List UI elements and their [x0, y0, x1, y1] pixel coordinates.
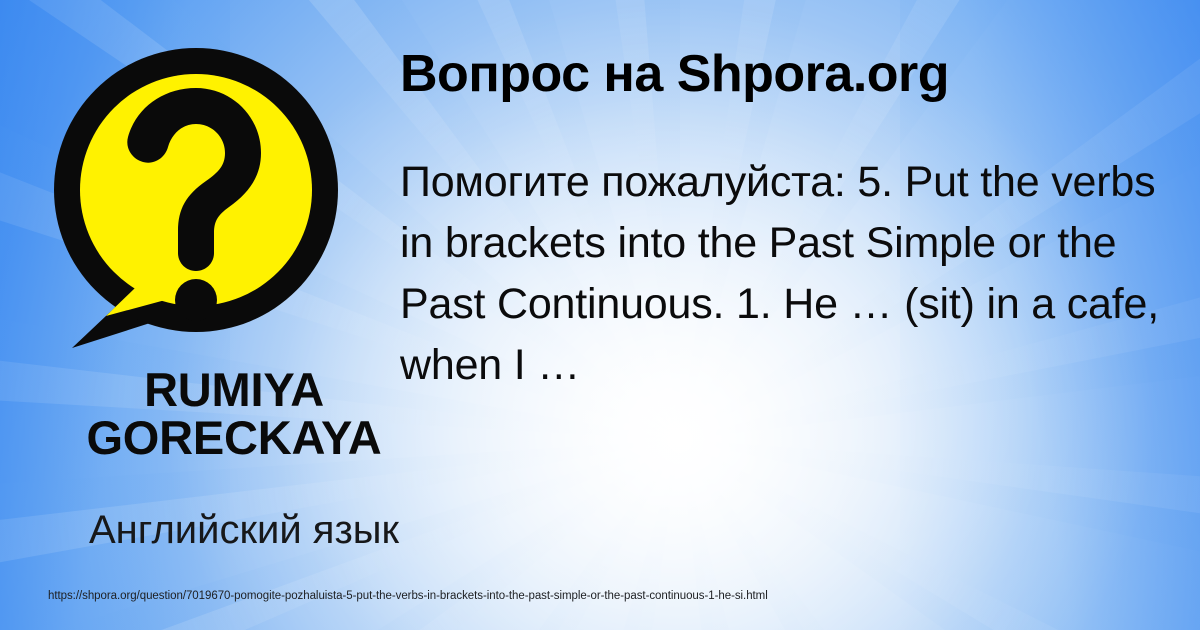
page-title: Вопрос на Shpora.org: [400, 46, 1190, 103]
share-card: RUMIYA GORECKAYA Английский язык Вопрос …: [0, 0, 1200, 630]
card-content: RUMIYA GORECKAYA Английский язык Вопрос …: [0, 0, 1200, 630]
question-speech-bubble-icon: [44, 48, 364, 348]
question-text: Помогите пожалуйста: 5. Put the verbs in…: [400, 152, 1200, 396]
subject-label: Английский язык: [44, 508, 444, 552]
source-url[interactable]: https://shpora.org/question/7019670-pomo…: [48, 591, 768, 603]
author-name: RUMIYA GORECKAYA: [44, 366, 424, 463]
